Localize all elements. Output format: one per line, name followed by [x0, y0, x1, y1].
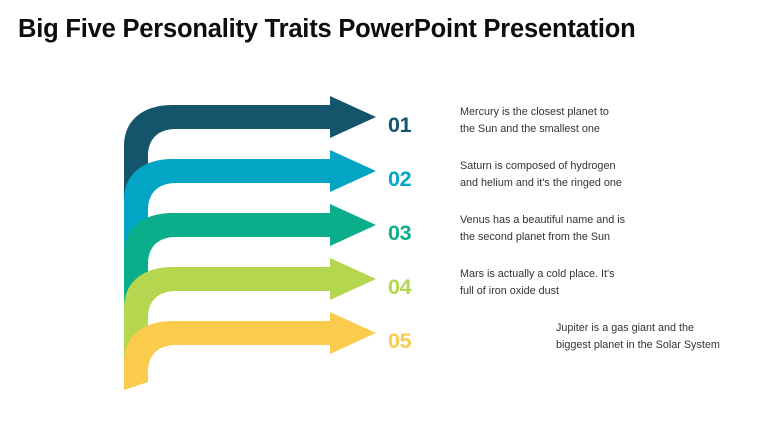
- item-text-02: Saturn is composed of hydrogen and heliu…: [460, 158, 760, 191]
- item-number-02: 02: [388, 166, 434, 192]
- slide-canvas: Big Five Personality Traits PowerPoint P…: [0, 0, 768, 432]
- item-number-01: 01: [388, 112, 434, 138]
- item-text-line: biggest planet in the Solar System: [556, 337, 768, 354]
- item-text-01: Mercury is the closest planet to the Sun…: [460, 104, 760, 137]
- item-text-05: Jupiter is a gas giant and the biggest p…: [556, 320, 768, 353]
- item-text-03: Venus has a beautiful name and is the se…: [460, 212, 760, 245]
- item-text-line: Saturn is composed of hydrogen: [460, 158, 760, 175]
- item-text-line: and helium and it’s the ringed one: [460, 175, 760, 192]
- item-text-line: full of iron oxide dust: [460, 283, 760, 300]
- list-item: 04 Mars is actually a cold place. It's f…: [388, 266, 768, 320]
- list-item: 03 Venus has a beautiful name and is the…: [388, 212, 768, 266]
- item-text-line: Mercury is the closest planet to: [460, 104, 760, 121]
- item-text-line: Jupiter is a gas giant and the: [556, 320, 768, 337]
- item-text-line: the second planet from the Sun: [460, 229, 760, 246]
- item-text-line: Mars is actually a cold place. It's: [460, 266, 760, 283]
- list-item: 01 Mercury is the closest planet to the …: [388, 104, 768, 158]
- item-text-line: Venus has a beautiful name and is: [460, 212, 760, 229]
- item-text-04: Mars is actually a cold place. It's full…: [460, 266, 760, 299]
- item-number-03: 03: [388, 220, 434, 246]
- list-item: 05 Jupiter is a gas giant and the bigges…: [388, 320, 768, 374]
- item-number-04: 04: [388, 274, 434, 300]
- item-text-line: the Sun and the smallest one: [460, 121, 760, 138]
- content-rows: 01 Mercury is the closest planet to the …: [0, 0, 768, 432]
- item-number-05: 05: [388, 328, 434, 354]
- list-item: 02 Saturn is composed of hydrogen and he…: [388, 158, 768, 212]
